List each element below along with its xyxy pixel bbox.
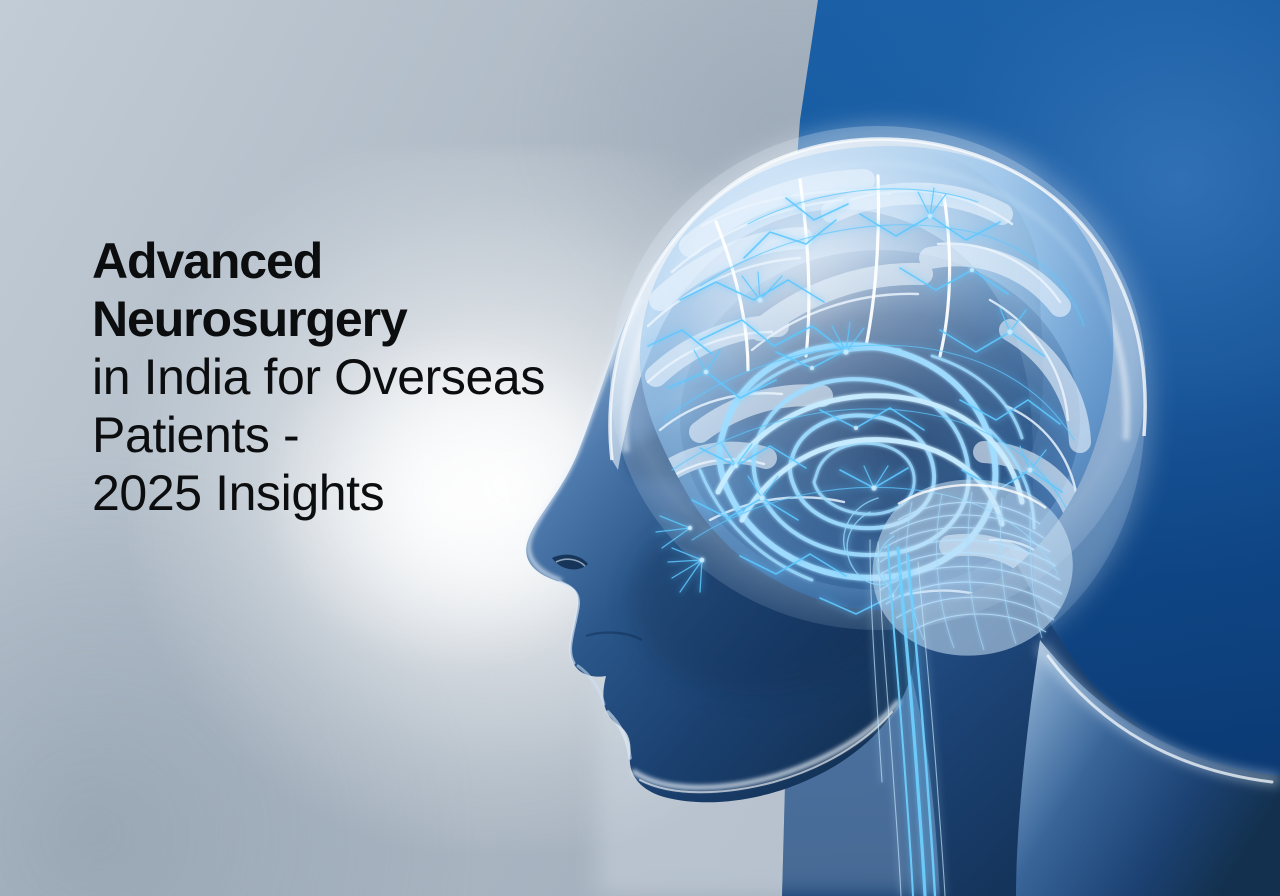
headline-line-4: Patients - [92,406,652,464]
headline-line-5: 2025 Insights [92,464,652,522]
headline-block: Advanced Neurosurgery in India for Overs… [92,232,652,522]
cerebellum [873,480,1073,656]
hero-banner: Advanced Neurosurgery in India for Overs… [0,0,1280,896]
headline-line-1: Advanced [92,232,652,290]
headline-line-2: Neurosurgery [92,290,652,348]
headline-line-3: in India for Overseas [92,348,652,406]
